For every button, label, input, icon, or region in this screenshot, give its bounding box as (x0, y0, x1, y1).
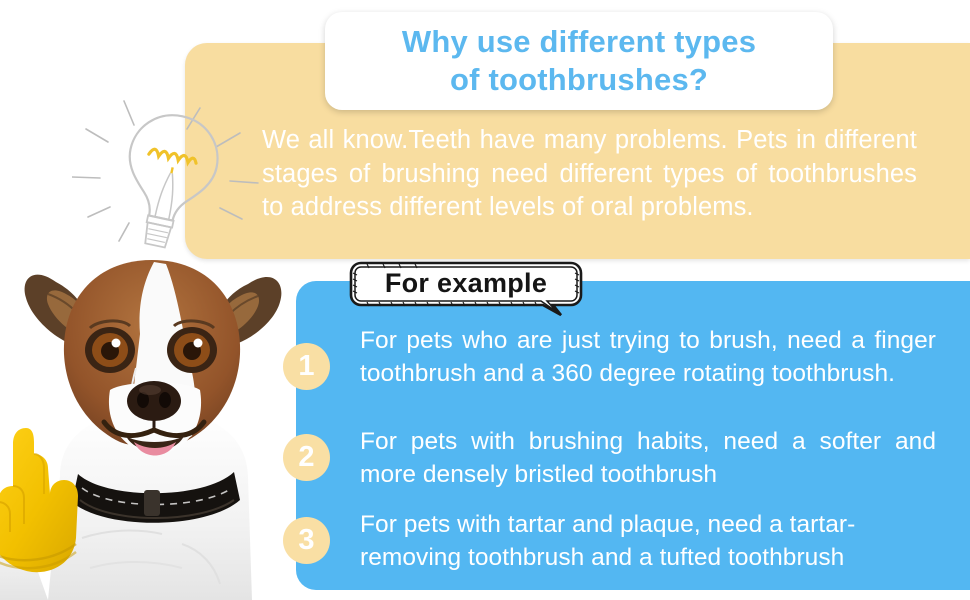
list-item: 2 For pets with brushing habits, need a … (283, 426, 936, 491)
list-item: 1 For pets who are just trying to brush,… (283, 325, 936, 390)
intro-paragraph: We all know.Teeth have many problems. Pe… (262, 124, 917, 225)
list-item-text: For pets who are just trying to brush, n… (360, 325, 936, 390)
dog-photo (0, 238, 316, 600)
list-item: 3 For pets with tartar and plaque, need … (283, 509, 936, 574)
bubble-label: For example (347, 259, 585, 308)
title-card: Why use different types of toothbrushes? (325, 12, 833, 110)
list-number-badge: 2 (283, 434, 330, 481)
list-item-text: For pets with brushing habits, need a so… (360, 426, 936, 491)
page-title: Why use different types of toothbrushes? (402, 23, 756, 99)
list-number-badge: 1 (283, 343, 330, 390)
for-example-bubble: For example (347, 259, 585, 317)
title-line-2: of toothbrushes? (402, 61, 756, 99)
list-number-badge: 3 (283, 517, 330, 564)
list-item-text: For pets with tartar and plaque, need a … (360, 509, 936, 574)
title-line-1: Why use different types (402, 24, 756, 59)
infographic-banner: Why use different types of toothbrushes?… (0, 0, 970, 600)
